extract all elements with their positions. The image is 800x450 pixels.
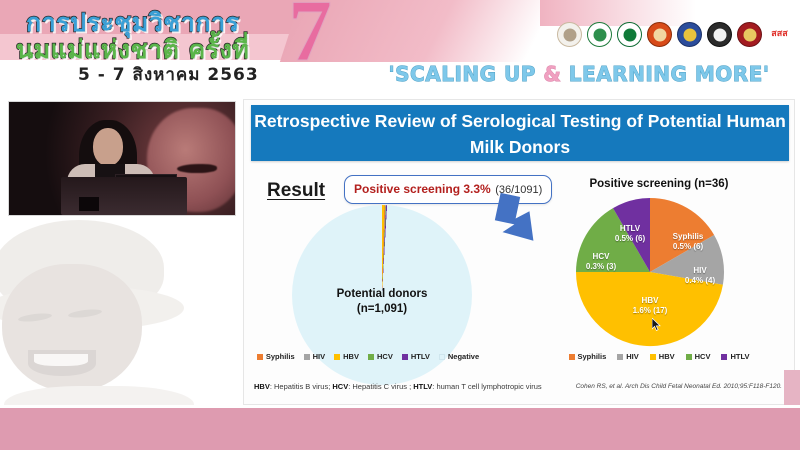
slice-label-hbv-value: 1.6% (17) xyxy=(618,306,682,316)
right-edge-pink-strip xyxy=(784,370,800,408)
legend2-item-hcv: HCV xyxy=(686,352,711,361)
red-royal-college-logo xyxy=(737,22,762,47)
slice-label-syphilis-value: 0.5% (6) xyxy=(658,242,718,252)
positive-screening-legend: Syphilis HIV HBV HCV HTLV xyxy=(534,352,784,361)
slice-label-syphilis-name: Syphilis xyxy=(658,232,718,242)
conference-edition-number: 7 xyxy=(288,0,332,76)
blue-arrow-icon xyxy=(494,193,542,245)
legend-swatch-syphilis xyxy=(257,354,263,360)
footnote-text-hbv: : Hepatitis B virus; xyxy=(270,382,333,391)
legend-label-negative: Negative xyxy=(448,352,479,361)
legend-item-htlv: HTLV xyxy=(402,352,430,361)
legend-item-negative: Negative xyxy=(439,352,479,361)
legend2-swatch-hiv xyxy=(617,354,623,360)
black-institute-logo xyxy=(707,22,732,47)
legend2-label-htlv: HTLV xyxy=(730,352,749,361)
legend2-label-syphilis: Syphilis xyxy=(578,352,607,361)
source-citation: Cohen RS, et al. Arch Dis Child Fetal Ne… xyxy=(576,383,782,390)
legend-label-hbv: HBV xyxy=(343,352,359,361)
legend-item-hiv: HIV xyxy=(304,352,326,361)
positive-screening-pie-chart: Syphilis 0.5% (6) HIV 0.4% (4) HBV 1.6% … xyxy=(574,196,736,348)
legend-swatch-htlv xyxy=(402,354,408,360)
callout-highlight-text: Positive screening 3.3% xyxy=(354,182,491,196)
slice-label-htlv-name: HTLV xyxy=(600,224,660,234)
legend-label-syphilis: Syphilis xyxy=(266,352,295,361)
footnote-text-htlv: : human T cell lymphotropic virus xyxy=(432,382,541,391)
slice-label-hiv: HIV 0.4% (4) xyxy=(674,266,726,286)
child-teeth xyxy=(34,354,88,366)
legend2-item-hbv: HBV xyxy=(650,352,675,361)
slice-label-hcv-value: 0.3% (3) xyxy=(575,262,627,272)
bottom-pink-band xyxy=(0,408,800,450)
presenter-webcam-feed[interactable] xyxy=(8,101,236,216)
slice-label-htlv: HTLV 0.5% (6) xyxy=(600,224,660,244)
legend-swatch-negative xyxy=(439,354,445,360)
potential-donors-pie-chart: Potential donors (n=1,091) xyxy=(292,205,488,401)
mouse-cursor-icon xyxy=(652,318,661,331)
podium-badge xyxy=(79,197,99,211)
slice-label-hcv-name: HCV xyxy=(575,252,627,262)
legend-label-htlv: HTLV xyxy=(411,352,430,361)
slide-presentation-screen: การประชุมวิชาการ นมแม่แห่งชาติ ครั้งที่ … xyxy=(0,0,800,450)
footnote-abbr-hbv: HBV xyxy=(254,382,270,391)
potential-donors-legend: Syphilis HIV HBV HCV HTLV Negative xyxy=(248,352,488,361)
legend-swatch-hiv xyxy=(304,354,310,360)
projected-baby-eye xyxy=(177,164,217,173)
potential-donors-n: (n=1,091) xyxy=(292,302,472,317)
slice-label-hbv: HBV 1.6% (17) xyxy=(618,296,682,316)
green-nursing-council-logo xyxy=(617,22,642,47)
footnote-text-hcv: : Hepatitis C virus ; xyxy=(348,382,413,391)
legend2-swatch-hcv xyxy=(686,354,692,360)
legend2-item-htlv: HTLV xyxy=(721,352,749,361)
legend-swatch-hcv xyxy=(368,354,374,360)
blue-university-logo xyxy=(677,22,702,47)
legend2-item-hiv: HIV xyxy=(617,352,639,361)
sponsor-logo-row: สสส xyxy=(557,22,792,47)
legend2-swatch-hbv xyxy=(650,354,656,360)
legend-item-hcv: HCV xyxy=(368,352,393,361)
legend-item-syphilis: Syphilis xyxy=(257,352,295,361)
legend2-swatch-htlv xyxy=(721,354,727,360)
result-heading: Result xyxy=(267,180,325,202)
tagline-part-2: LEARNING MORE' xyxy=(561,62,769,86)
thaihealth-mark-text: สสส xyxy=(771,30,787,39)
child-watermark-photo xyxy=(0,218,238,426)
slice-label-htlv-value: 0.5% (6) xyxy=(600,234,660,244)
potential-donors-center-label: Potential donors (n=1,091) xyxy=(292,287,472,317)
slide-title: Retrospective Review of Serological Test… xyxy=(251,105,789,161)
footnote-abbr-htlv: HTLV xyxy=(413,382,432,391)
legend-item-hbv: HBV xyxy=(334,352,359,361)
footnote-abbr-hcv: HCV xyxy=(332,382,348,391)
potential-donors-title: Potential donors xyxy=(292,287,472,302)
royal-emblem-logo xyxy=(557,22,582,47)
thaihealth-sss-logo: สสส xyxy=(767,22,792,47)
abbreviation-footnote: HBV: Hepatitis B virus; HCV: Hepatitis C… xyxy=(254,382,542,391)
legend-swatch-hbv xyxy=(334,354,340,360)
legend2-item-syphilis: Syphilis xyxy=(569,352,607,361)
slice-label-syphilis: Syphilis 0.5% (6) xyxy=(658,232,718,252)
legend2-label-hbv: HBV xyxy=(659,352,675,361)
conference-date: 5 - 7 สิงหาคม 2563 xyxy=(78,61,259,88)
slice-label-hiv-value: 0.4% (4) xyxy=(674,276,726,286)
slice-label-hbv-name: HBV xyxy=(618,296,682,306)
orange-ministry-logo xyxy=(647,22,672,47)
tagline-part-1: 'SCALING UP xyxy=(389,62,544,86)
conference-tagline: 'SCALING UP & LEARNING MORE' xyxy=(360,62,798,86)
slice-label-hcv: HCV 0.3% (3) xyxy=(575,252,627,272)
green-medical-council-logo xyxy=(587,22,612,47)
slide-content-panel: Retrospective Review of Serological Test… xyxy=(243,99,795,405)
legend2-swatch-syphilis xyxy=(569,354,575,360)
slice-label-hiv-name: HIV xyxy=(674,266,726,276)
positive-screening-chart-title: Positive screening (n=36) xyxy=(534,178,784,190)
legend2-label-hiv: HIV xyxy=(626,352,639,361)
conference-header-banner: การประชุมวิชาการ นมแม่แห่งชาติ ครั้งที่ … xyxy=(0,0,800,95)
legend-label-hiv: HIV xyxy=(313,352,326,361)
legend2-label-hcv: HCV xyxy=(695,352,711,361)
legend-label-hcv: HCV xyxy=(377,352,393,361)
tagline-ampersand: & xyxy=(543,62,561,86)
presenter-face xyxy=(93,128,123,166)
